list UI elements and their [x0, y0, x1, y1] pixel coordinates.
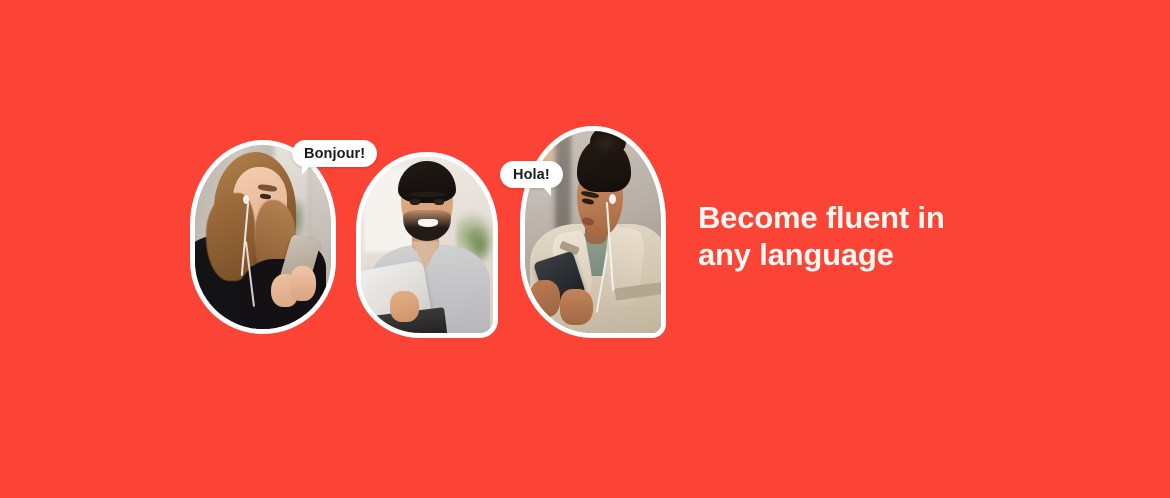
- speech-bubble-hola-label: Hola!: [513, 167, 550, 183]
- headline: Become fluent in any language: [698, 199, 1118, 273]
- photo-woman-phone-outdoors: [190, 140, 336, 334]
- right-hand: [560, 289, 593, 325]
- speech-bubble-hola: Hola!: [500, 161, 563, 188]
- language-learning-banner: Bonjour! Hola! Become fluent in any lang…: [0, 0, 1170, 498]
- headline-line-1: Become fluent in: [698, 199, 1118, 236]
- photo-2-scene: [361, 157, 493, 333]
- left-eye: [410, 199, 421, 204]
- speech-bubble-bonjour-label: Bonjour!: [304, 146, 365, 162]
- photo-cluster: Bonjour! Hola!: [188, 126, 672, 344]
- earphone-bud: [609, 194, 616, 204]
- left-hand: [530, 280, 560, 316]
- hand: [390, 291, 419, 323]
- photo-man-laptop: [356, 152, 498, 338]
- photo-woman-trenchcoat-phone: [520, 126, 666, 338]
- right-hand: [290, 266, 316, 301]
- speech-bubble-bonjour: Bonjour!: [292, 140, 377, 167]
- right-eye: [434, 199, 445, 204]
- headline-line-2: any language: [698, 236, 1118, 273]
